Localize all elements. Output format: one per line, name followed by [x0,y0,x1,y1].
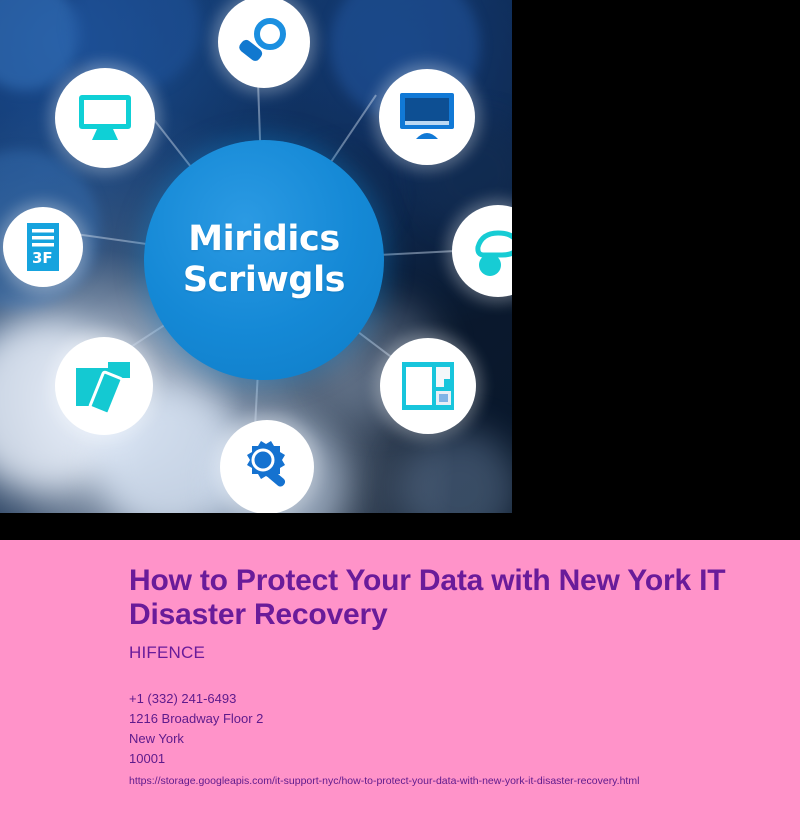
bokeh-disc [0,0,80,90]
contact-postal-code: 10001 [129,749,800,769]
hero-image: Miridics Scriwgls [0,0,512,513]
page-title: How to Protect Your Data with New York I… [129,564,729,632]
server-document-icon: 3F [21,221,65,273]
svg-text:3F: 3F [32,249,53,267]
contact-block: +1 (332) 241-6493 1216 Broadway Floor 2 … [129,689,800,788]
node-folder [55,337,153,435]
node-desktop [55,68,155,168]
cloud-shape-icon [470,225,512,277]
contact-phone[interactable]: +1 (332) 241-6493 [129,689,800,709]
contact-address-line1: 1216 Broadway Floor 2 [129,709,800,729]
content-panel: How to Protect Your Data with New York I… [0,540,800,840]
source-url-link[interactable]: https://storage.googleapis.com/it-suppor… [129,774,800,788]
contact-city: New York [129,729,800,749]
node-server-doc: 3F [3,207,83,287]
folder-device-icon [74,358,134,414]
hub-label-line1: Miridics [188,219,340,260]
layout-window-icon [400,360,456,412]
node-magnifier [218,0,310,88]
hub-label-line2: Scriwgls [183,260,345,301]
hub-circle: Miridics Scriwgls [144,140,384,380]
node-screen [379,69,475,165]
gear-magnifier-icon [239,439,295,495]
brand-name: HIFENCE [129,643,800,663]
node-settings-search [220,420,314,513]
bokeh-disc [400,430,512,513]
magnifier-icon [237,15,291,69]
desktop-monitor-icon [76,91,134,145]
node-layout [380,338,476,434]
monitor-screen-icon [398,91,456,143]
node-cloud [452,205,512,297]
page-root: Miridics Scriwgls [0,0,800,840]
